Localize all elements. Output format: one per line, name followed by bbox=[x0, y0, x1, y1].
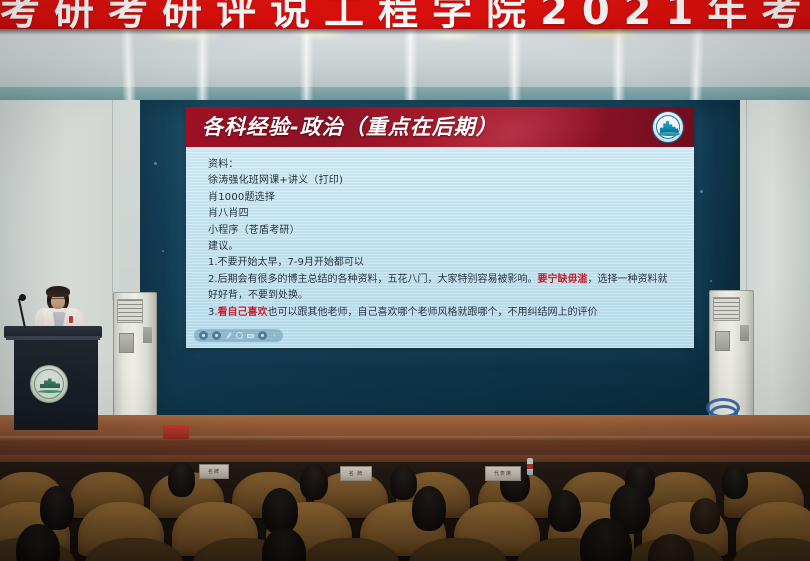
pen-shape bbox=[226, 332, 231, 339]
ceiling-strip bbox=[300, 29, 313, 105]
prev-dot bbox=[202, 334, 205, 337]
slide-line: 小程序（苍盾考研） bbox=[208, 223, 676, 239]
panel-speck bbox=[162, 250, 164, 252]
audience-head bbox=[262, 488, 298, 534]
podium-university-seal bbox=[30, 365, 68, 403]
name-placard: 名牌 bbox=[199, 464, 229, 479]
university-emblem-icon bbox=[652, 111, 684, 143]
panel-speck bbox=[710, 280, 712, 282]
podium-lip bbox=[6, 336, 100, 340]
para2-highlight: 要宁缺毋滥 bbox=[538, 274, 588, 285]
slide-body: 资料： 徐涛强化班网课+讲义（打印) 肖1000题选择 肖八肖四 小程序（苍盾考… bbox=[186, 147, 694, 348]
slide-paragraph-2: 2.后期会有很多的博主总结的各种资料，五花八门，大家特别容易被影响。要宁缺毋滥，… bbox=[208, 272, 676, 305]
slide-line: 肖1000题选择 bbox=[208, 190, 676, 206]
ac-grille bbox=[117, 299, 143, 323]
ac-indicator bbox=[143, 327, 152, 343]
microphone-head bbox=[19, 294, 26, 301]
ceiling bbox=[0, 29, 810, 105]
audience-head bbox=[168, 462, 195, 497]
speaker-badge bbox=[69, 316, 73, 323]
hall-red-banner: 考研考研评说工程学院2021年考 bbox=[0, 0, 810, 29]
menu-dot bbox=[261, 334, 264, 337]
prev-slide-icon[interactable] bbox=[199, 331, 208, 340]
stage-edge-highlight bbox=[0, 436, 810, 441]
laser-pointer-icon[interactable] bbox=[236, 331, 243, 340]
chevron-left-icon: ‹ bbox=[273, 332, 275, 339]
name-placard: 名 牌 bbox=[340, 466, 372, 481]
ceiling-strip bbox=[120, 29, 136, 105]
wall-seam bbox=[746, 100, 747, 300]
audience-head bbox=[40, 486, 74, 530]
presentation-slide: 各科经验-政治（重点在后期） 资料： 徐涛强化班网课+讲义（打印) 肖1000题… bbox=[186, 107, 694, 348]
banner-shadow bbox=[0, 29, 810, 35]
emblem-water bbox=[658, 132, 680, 136]
speaker-fringe bbox=[46, 286, 70, 297]
stage-red-object bbox=[163, 425, 189, 439]
collapse-toolbar-icon[interactable]: ‹ bbox=[271, 331, 278, 340]
panel-speck bbox=[154, 162, 157, 165]
ceiling-strip bbox=[196, 29, 209, 105]
audience-head bbox=[390, 466, 417, 500]
ac-panel bbox=[119, 333, 134, 353]
audience-head bbox=[300, 464, 328, 500]
pen-icon[interactable] bbox=[225, 331, 232, 340]
slide-line: 徐涛强化班网课+讲义（打印) bbox=[208, 173, 676, 189]
slide-paragraph-3: 3.看自己喜欢也可以跟其他老师，自己喜欢哪个老师风格就跟哪个，不用纠结网上的评价 bbox=[208, 305, 676, 321]
name-placard: 代表席 bbox=[485, 466, 521, 481]
para3-number: 3. bbox=[208, 307, 218, 318]
seal-water bbox=[38, 390, 62, 393]
next-dot bbox=[215, 334, 218, 337]
more-options-icon[interactable] bbox=[258, 331, 267, 340]
ac-grille bbox=[713, 297, 740, 321]
audience-head bbox=[412, 486, 446, 531]
wall-seam bbox=[112, 100, 113, 300]
slideshow-toolbar[interactable]: ‹ bbox=[194, 329, 283, 342]
placard-text: 名 牌 bbox=[349, 470, 364, 477]
auditorium-presentation-photo: 考研考研评说工程学院2021年考 各科经验-政治（重点在后期） bbox=[0, 0, 810, 561]
audience-head bbox=[690, 498, 720, 534]
screen-shape bbox=[247, 334, 254, 338]
ac-panel bbox=[715, 331, 730, 351]
placard-text: 名牌 bbox=[208, 468, 220, 475]
ceiling-strip bbox=[508, 29, 521, 105]
screen-mode-icon[interactable] bbox=[247, 331, 254, 340]
projection-screen: 各科经验-政治（重点在后期） 资料： 徐涛强化班网课+讲义（打印) 肖1000题… bbox=[186, 107, 694, 348]
speaker-glasses bbox=[51, 298, 65, 302]
para3-part-b: 也可以跟其他老师，自己喜欢哪个老师风格就跟哪个，不用纠结网上的评价 bbox=[268, 307, 598, 318]
ceiling-strip bbox=[612, 29, 625, 105]
slide-title: 各科经验-政治（重点在后期） bbox=[202, 111, 498, 141]
para3-highlight: 看自己喜欢 bbox=[218, 307, 268, 318]
audience-seating-area bbox=[0, 462, 810, 561]
audience-head bbox=[548, 490, 581, 532]
next-slide-icon[interactable] bbox=[212, 331, 221, 340]
slide-line: 肖八肖四 bbox=[208, 206, 676, 222]
panel-speck bbox=[700, 190, 703, 193]
banner-text: 考研考研评说工程学院2021年考 bbox=[0, 0, 810, 29]
reticle-shape bbox=[236, 332, 243, 339]
water-bottle bbox=[527, 458, 533, 475]
ceiling-strip bbox=[404, 29, 417, 105]
slide-line: 1.不要开始太早，7-9月开始都可以 bbox=[208, 255, 676, 271]
ac-indicator bbox=[740, 325, 749, 341]
slide-line: 资料： bbox=[208, 157, 676, 173]
placard-text: 代表席 bbox=[494, 470, 512, 477]
audience-head bbox=[722, 465, 748, 499]
air-conditioner-left bbox=[113, 292, 157, 422]
slide-line: 建议。 bbox=[208, 239, 676, 255]
slide-title-bar: 各科经验-政治（重点在后期） bbox=[186, 107, 694, 147]
para2-part-a: 2.后期会有很多的博主总结的各种资料，五花八门，大家特别容易被影响。 bbox=[208, 274, 538, 285]
